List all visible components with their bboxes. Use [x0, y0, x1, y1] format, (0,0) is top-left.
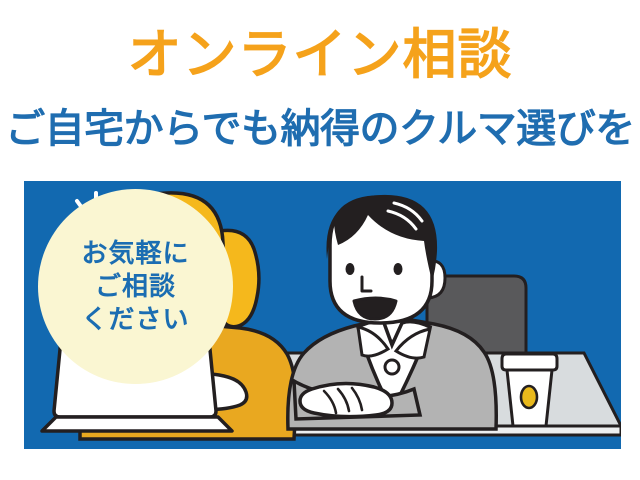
online-consultation-banner: オンライン相談 ご自宅からでも納得のクルマ選びを [0, 0, 640, 480]
illustration-panel: お気軽に ご相談 ください [24, 181, 621, 449]
badge-line-2: ご相談 [95, 270, 176, 303]
page-subtitle: ご自宅からでも納得のクルマ選びを [0, 104, 640, 154]
consultation-badge: お気軽に ご相談 ください [38, 189, 233, 384]
man-shirt-button [385, 360, 399, 374]
badge-line-3: ください [81, 303, 189, 336]
badge-line-1: お気軽に [81, 237, 189, 270]
cup-lid [502, 354, 557, 370]
man-eye-right [394, 263, 403, 275]
laptop-base [42, 417, 232, 431]
man-eye-left [346, 263, 355, 275]
page-title: オンライン相談 [0, 24, 640, 86]
cup-logo-icon [521, 386, 537, 408]
